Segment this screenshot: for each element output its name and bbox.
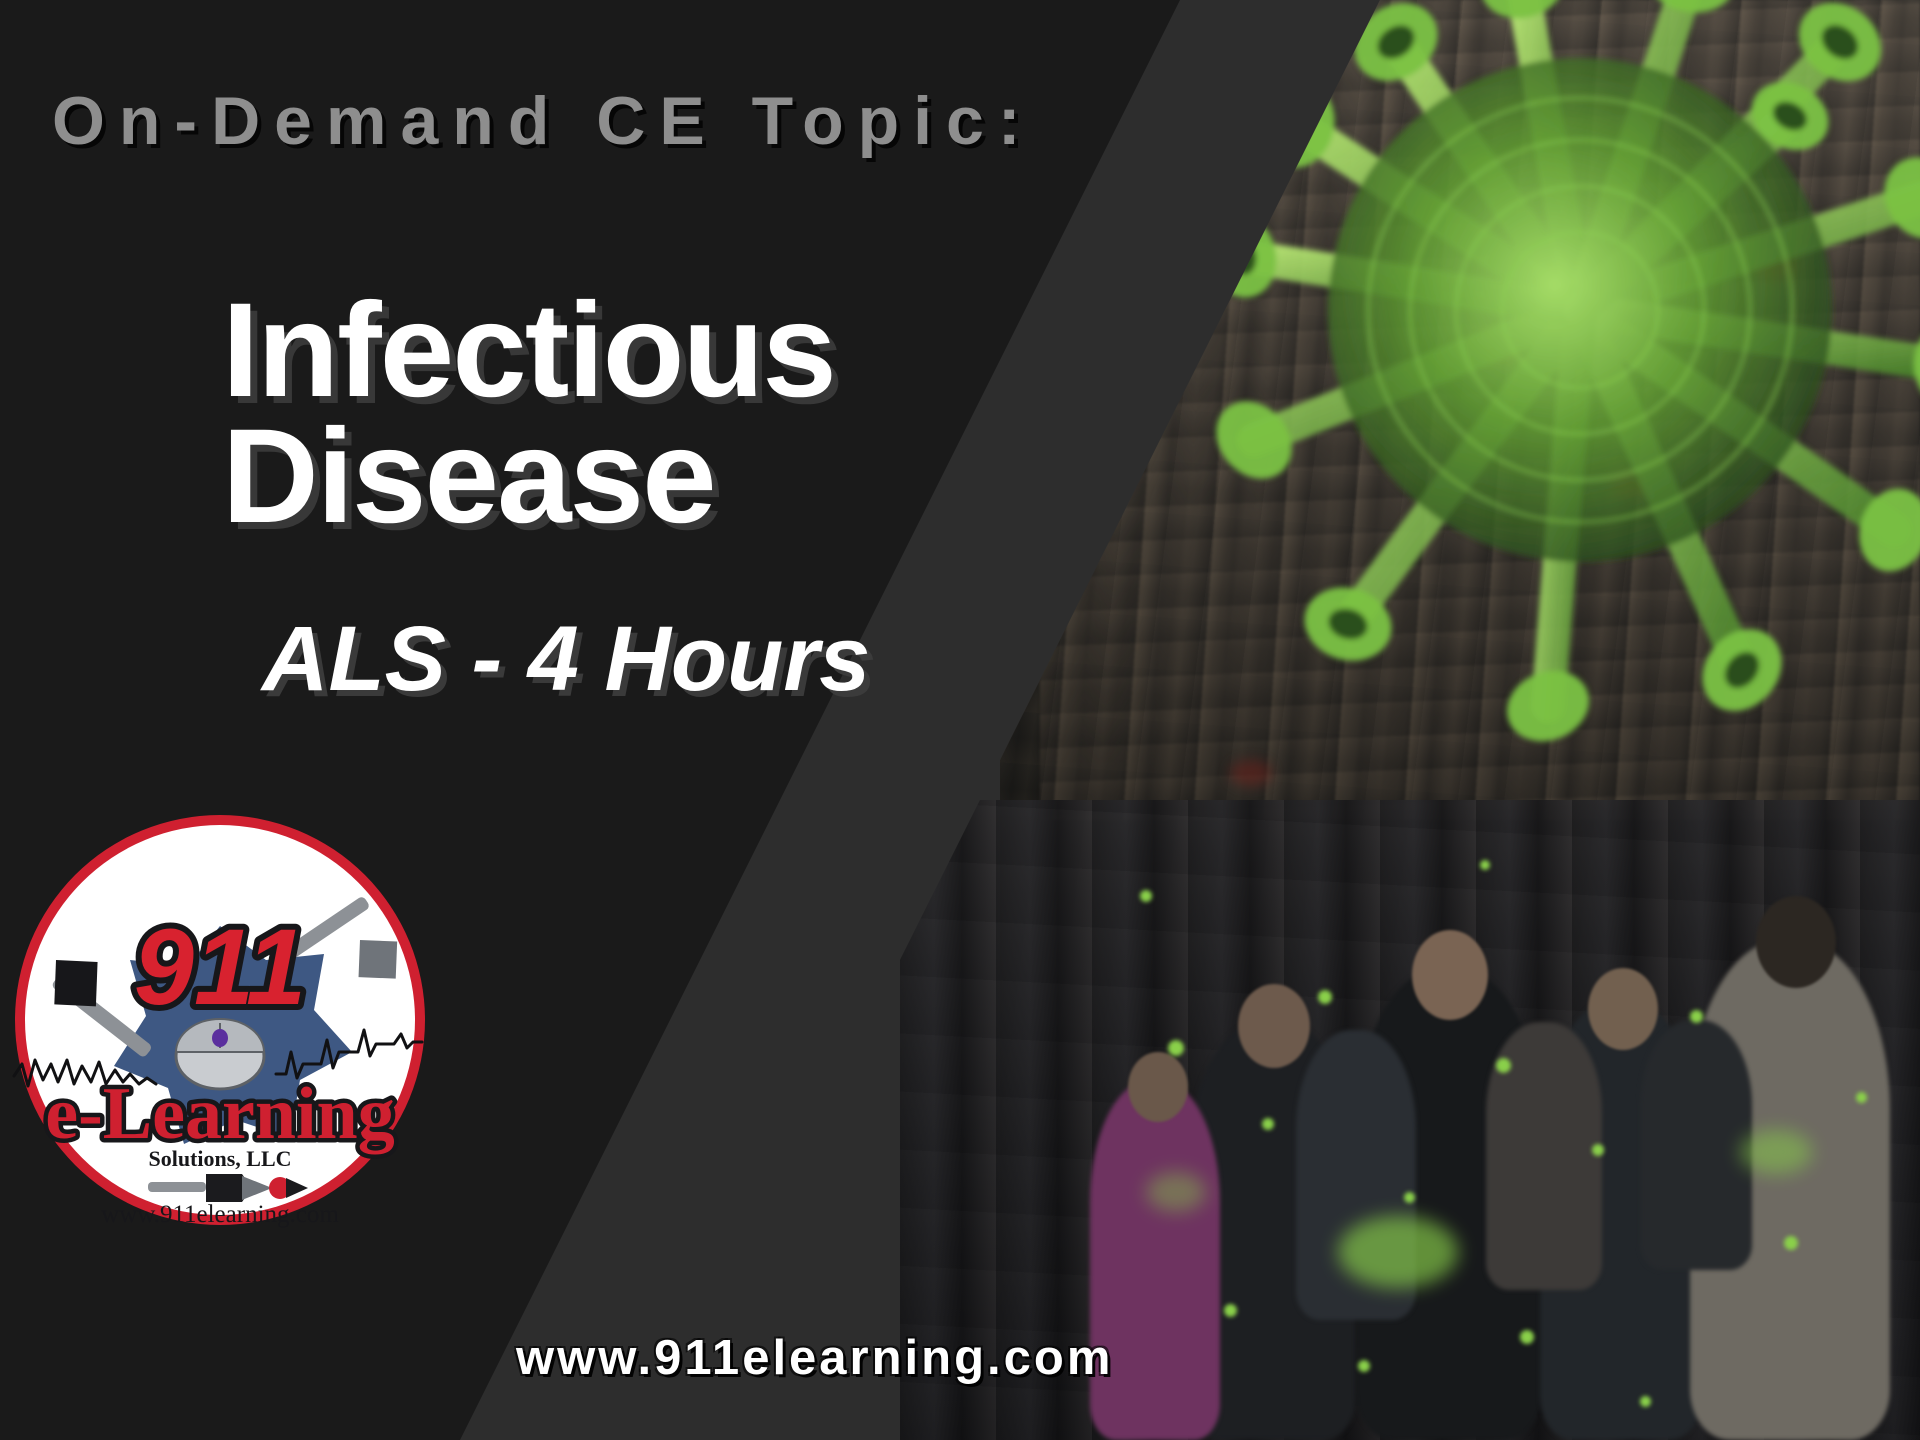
- person-head: [1588, 968, 1658, 1050]
- person-head: [1756, 896, 1836, 988]
- person-figure: [1640, 1020, 1752, 1270]
- green-spore: [1168, 1040, 1184, 1056]
- green-spore: [1740, 1130, 1812, 1174]
- green-spore: [1480, 860, 1490, 870]
- svg-text:911: 911: [134, 906, 306, 1027]
- green-spore: [1640, 1396, 1651, 1407]
- person-head: [1238, 984, 1310, 1068]
- svg-text:e-Learning: e-Learning: [45, 1073, 394, 1155]
- logo-suffix: Solutions, LLC: [148, 1146, 291, 1171]
- green-spore: [1224, 1304, 1237, 1317]
- green-spore: [1784, 1236, 1798, 1250]
- person-figure: [1090, 1080, 1220, 1440]
- green-spore: [1318, 990, 1332, 1004]
- green-spore: [1520, 1330, 1534, 1344]
- green-spore: [1592, 1144, 1604, 1156]
- green-spore: [1262, 1118, 1274, 1130]
- green-spore: [1146, 1172, 1206, 1212]
- footer-website-url[interactable]: www.911elearning.com: [516, 1330, 1113, 1386]
- page-title: Infectious Disease: [222, 288, 835, 540]
- green-spore: [1358, 1360, 1370, 1372]
- green-spore: [1496, 1058, 1511, 1073]
- green-spore: [1856, 1092, 1867, 1103]
- person-head: [1412, 930, 1488, 1020]
- logo-number: 911 911: [134, 906, 306, 1027]
- kicker-text: On-Demand CE Topic:: [52, 82, 1035, 160]
- company-logo[interactable]: 911 911 e-Learning e-Learning Solut: [8, 808, 432, 1232]
- logo-url: www.911elearning.com: [101, 1201, 339, 1228]
- promo-poster: On-Demand CE Topic: Infectious Disease A…: [0, 0, 1920, 1440]
- title-line-1: Infectious: [222, 288, 835, 414]
- green-spore: [1140, 890, 1152, 902]
- green-spore: [1404, 1192, 1415, 1203]
- course-subtitle: ALS - 4 Hours: [262, 607, 870, 712]
- person-head: [1128, 1052, 1188, 1122]
- green-spore: [1690, 1010, 1703, 1023]
- logo-wordmark: e-Learning e-Learning: [45, 1073, 394, 1155]
- green-spore: [1338, 1216, 1458, 1288]
- title-line-2: Disease: [222, 414, 835, 540]
